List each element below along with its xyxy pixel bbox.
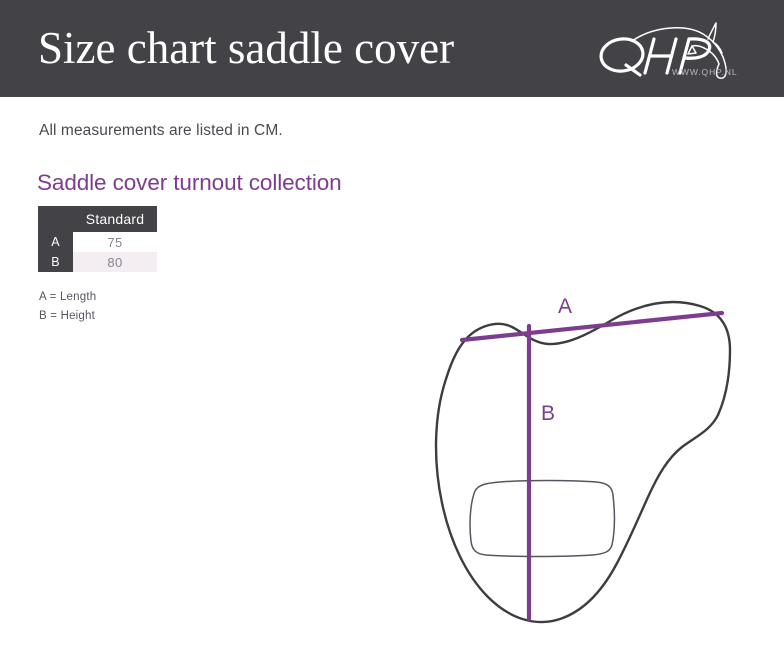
- table-corner-cell: [38, 206, 73, 232]
- table-row: A 75: [38, 232, 157, 252]
- saddle-outline-path: [436, 302, 730, 622]
- table-row-label-a: A: [38, 232, 73, 252]
- table-header-row: Standard: [38, 206, 157, 232]
- table-row-label-b: B: [38, 252, 73, 272]
- table-row: B 80: [38, 252, 157, 272]
- table-cell-b-standard: 80: [73, 252, 157, 272]
- table-legend: A = Length B = Height: [39, 288, 96, 326]
- size-chart-table: Standard A 75 B 80: [38, 206, 157, 272]
- header-band: Size chart saddle cover: [0, 0, 784, 97]
- legend-line-length: A = Length: [39, 288, 96, 307]
- dimension-label-a: A: [558, 295, 572, 318]
- section-heading: Saddle cover turnout collection: [37, 170, 342, 196]
- table-column-header-standard: Standard: [73, 206, 157, 232]
- measurement-note: All measurements are listed in CM.: [39, 122, 283, 140]
- saddle-diagram: A B: [400, 275, 784, 655]
- legend-line-height: B = Height: [39, 307, 96, 326]
- dimension-label-b: B: [541, 402, 555, 425]
- brand-url-text: WWW.QHP.NL: [672, 67, 738, 77]
- table-cell-a-standard: 75: [73, 232, 157, 252]
- page-title: Size chart saddle cover: [38, 19, 454, 77]
